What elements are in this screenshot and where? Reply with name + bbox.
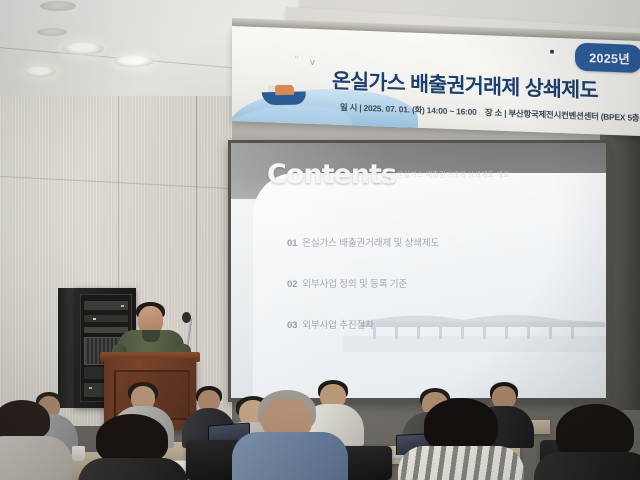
- person-hair: [96, 414, 168, 464]
- rack-unit: [84, 327, 128, 333]
- rack-status-led: [121, 305, 124, 307]
- bridge-photo-silhouette: [343, 306, 606, 352]
- person-torso: [232, 432, 348, 480]
- toc-number: 03: [287, 320, 297, 331]
- person-torso: [78, 458, 188, 480]
- person-torso: [0, 436, 72, 480]
- rack-status-led: [93, 318, 96, 320]
- ceiling-downlight: [37, 28, 67, 36]
- toc-number: 01: [287, 238, 297, 249]
- ceiling-downlight: [24, 66, 56, 77]
- person-torso: [534, 452, 640, 480]
- slide-toc-item-1: 01온실가스 배출권거래제 및 상쇄제도: [287, 235, 439, 249]
- seagull-icon: ᐯ: [310, 59, 315, 67]
- ceiling-downlight: [114, 55, 154, 67]
- slide-subheading: 온실가스 배출권거래제 상쇄제도 개요: [397, 170, 510, 180]
- banner-dot: [550, 50, 554, 54]
- speaker-collar: [142, 330, 160, 342]
- ceiling-downlight: [40, 1, 76, 11]
- banner-venue: 장 소 | 부산항국제전시컨벤션센터 (BPEX 5층: [485, 106, 639, 124]
- rack-status-led: [89, 387, 92, 389]
- person-hair: [0, 400, 50, 440]
- seminar-room-photo: ᐧᐧ ᐯ 2025년 온실가스 배출권거래제 상쇄제도 일 시 | 2025. …: [0, 0, 640, 480]
- wall-corner-edge: [196, 96, 197, 426]
- banner-boat-cabin: [275, 85, 294, 95]
- slide-toc-item-3: 03외부사업 추진절차: [287, 317, 374, 331]
- slide-heading: Contents: [267, 159, 396, 190]
- event-banner: ᐧᐧ ᐯ 2025년 온실가스 배출권거래제 상쇄제도 일 시 | 2025. …: [232, 26, 640, 136]
- ceiling-downlight: [62, 42, 104, 55]
- toc-number: 02: [287, 279, 297, 290]
- av-rack-side: [58, 288, 74, 408]
- toc-label: 온실가스 배출권거래제 및 상쇄제도: [302, 238, 439, 249]
- toc-label: 외부사업 추진절차: [302, 320, 373, 331]
- seagull-icon: ᐧᐧ: [294, 52, 299, 63]
- slide-toc-item-2: 02외부사업 정의 및 등록 기준: [287, 276, 407, 290]
- person-torso-striped: [398, 446, 524, 480]
- microphone-icon: [182, 312, 191, 323]
- banner-year-badge: 2025년: [575, 43, 640, 73]
- toc-label: 외부사업 정의 및 등록 기준: [302, 279, 407, 290]
- projection-screen: Contents 온실가스 배출권거래제 상쇄제도 개요 01온실가스 배출권거…: [231, 143, 606, 398]
- person-hair: [424, 398, 498, 452]
- rack-unit: [84, 315, 128, 322]
- water-cup: [72, 446, 85, 461]
